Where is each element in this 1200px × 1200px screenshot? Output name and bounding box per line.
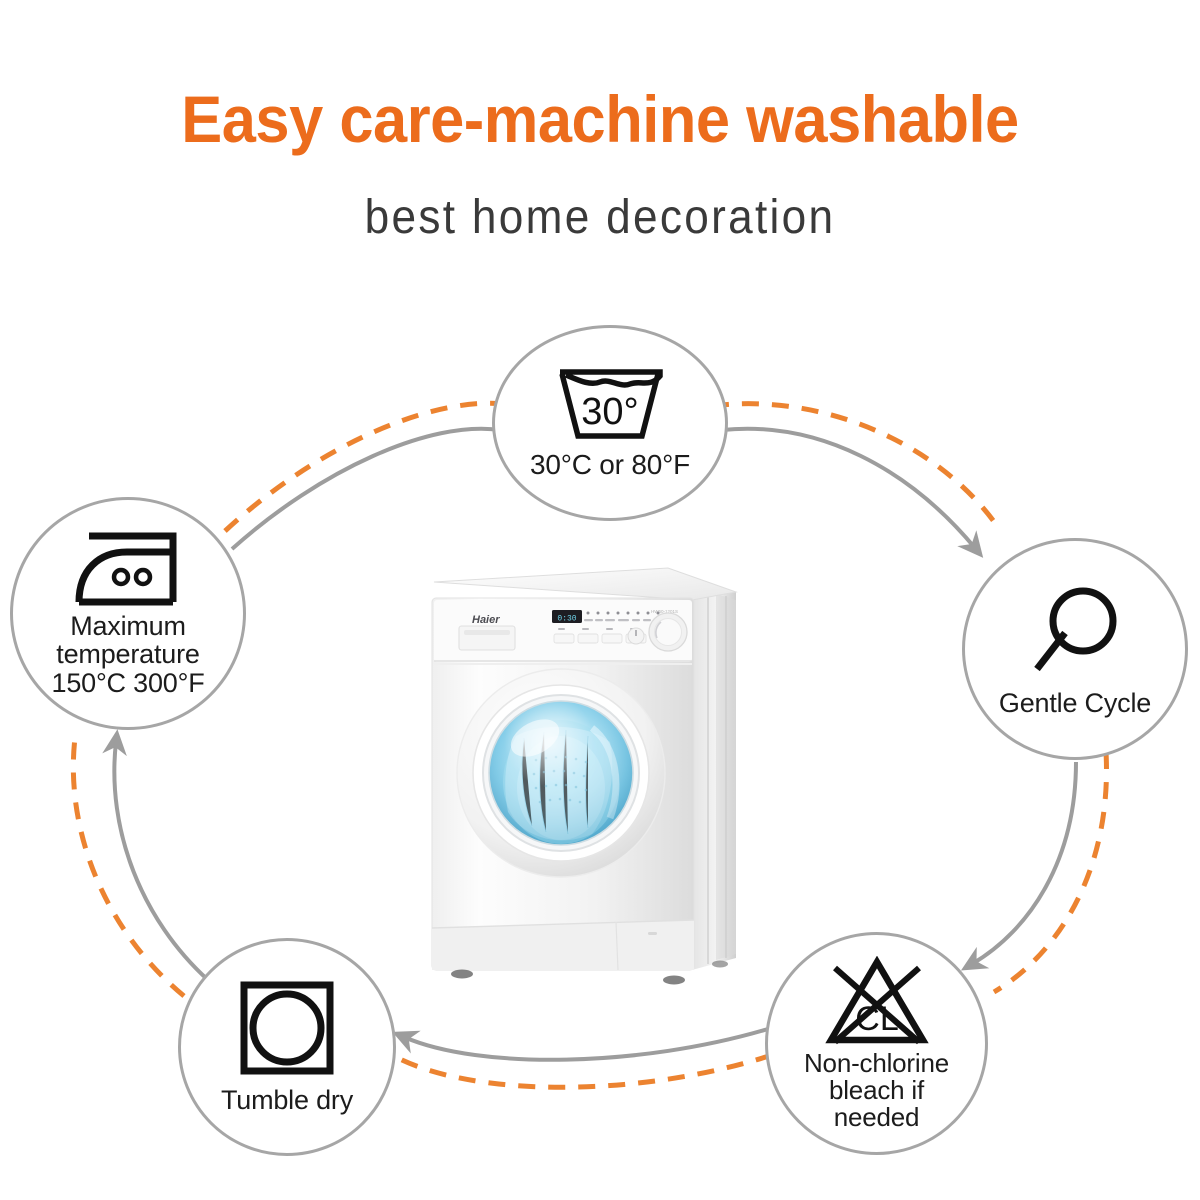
page-subtitle: best home decoration — [48, 194, 1152, 242]
arrow-gentle-to-bleach — [972, 762, 1076, 964]
badge-iron-caption: Maximum temperature 150°C 300°F — [52, 612, 205, 696]
dash-gentle-to-bleach — [994, 752, 1106, 992]
wash-temp-value: 30° — [581, 391, 638, 433]
dash-iron-to-wash — [225, 403, 512, 531]
wash-tub-30-icon: 30° — [554, 366, 666, 444]
arrow-tumble-to-iron — [114, 742, 208, 980]
badge-tumble-dry[interactable]: Tumble dry — [178, 938, 396, 1156]
washer-foot — [663, 976, 685, 985]
gentle-cycle-icon — [1025, 581, 1125, 681]
page-title: Easy care-machine washable — [42, 86, 1158, 152]
badge-tumble-caption: Tumble dry — [221, 1086, 353, 1114]
badge-bleach-caption: Non-chlorine bleach if needed — [804, 1050, 949, 1131]
dash-tumble-to-iron — [73, 730, 184, 996]
badge-non-chlorine-bleach[interactable]: CL Non-chlorine bleach if needed — [765, 932, 988, 1155]
badge-wash-temperature[interactable]: 30° 30°C or 80°F — [492, 325, 728, 521]
arrow-bleach-to-tumble — [404, 1029, 768, 1060]
badge-gentle-caption: Gentle Cycle — [999, 689, 1151, 717]
dash-wash-to-gentle — [712, 404, 1000, 530]
washing-machine-product-image: Haier HW60-1201S 0:30 — [420, 560, 765, 1010]
badge-max-temperature[interactable]: Maximum temperature 150°C 300°F — [10, 497, 246, 730]
indicator-labels — [584, 619, 661, 621]
brand-wordmark: Haier — [472, 614, 500, 626]
infographic-page: Easy care-machine washable best home dec… — [0, 0, 1200, 1200]
led-display: 0:30 — [557, 615, 576, 624]
washer-foot — [451, 970, 473, 979]
iron-two-dots-icon — [73, 530, 183, 608]
no-chlorine-bleach-icon: CL — [825, 956, 929, 1048]
badge-gentle-cycle[interactable]: Gentle Cycle — [962, 538, 1188, 760]
tumble-dry-icon — [239, 980, 335, 1076]
badge-wash-caption: 30°C or 80°F — [530, 450, 690, 479]
washer-foot — [712, 961, 728, 968]
dash-bleach-to-tumble — [392, 1055, 772, 1087]
arrow-wash-to-gentle — [722, 429, 975, 548]
arrow-iron-to-wash — [232, 429, 500, 549]
